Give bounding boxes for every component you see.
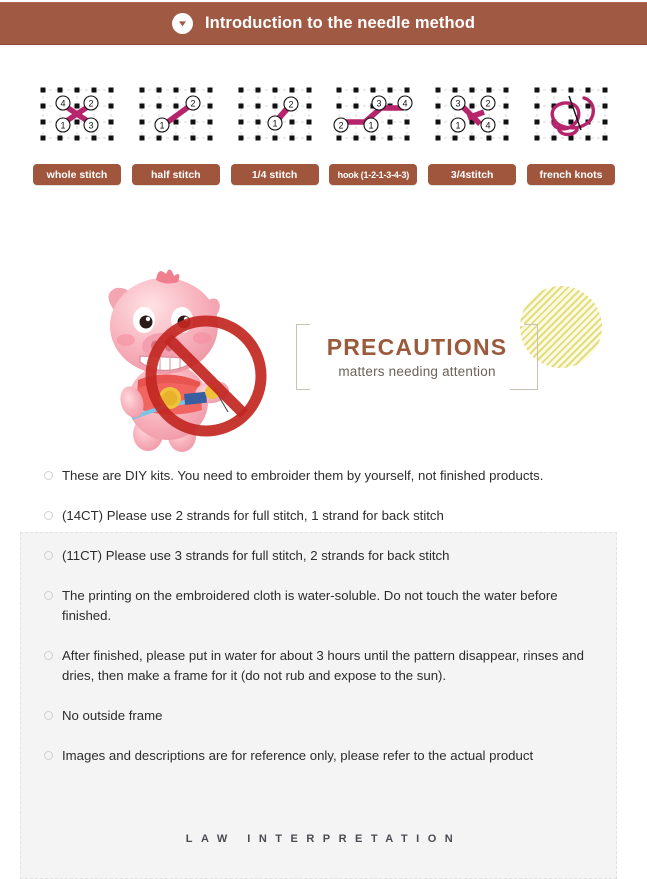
- svg-text:4: 4: [486, 120, 491, 130]
- section-header-needle-method: Introduction to the needle method: [0, 2, 647, 45]
- notes-list: These are DIY kits. You need to embroide…: [44, 466, 604, 786]
- bullet-circle-icon: [44, 711, 53, 720]
- stitch-cell-whole-stitch: 1 2 3 4 whole stitch: [33, 84, 121, 185]
- list-item: The printing on the embroidered cloth is…: [44, 586, 604, 626]
- note-text: No outside frame: [62, 706, 162, 726]
- precautions-title: PRECAUTIONS: [327, 335, 508, 360]
- note-text: Images and descriptions are for referenc…: [62, 746, 533, 766]
- note-text: These are DIY kits. You need to embroide…: [62, 466, 543, 486]
- svg-text:2: 2: [88, 98, 93, 108]
- stitch-label-three-quarter-stitch: 3/4stitch: [428, 164, 516, 185]
- bullet-circle-icon: [44, 551, 53, 560]
- svg-text:1: 1: [369, 120, 374, 130]
- stitch-grid-french-knots: [529, 84, 613, 154]
- note-text: After finished, please put in water for …: [62, 646, 587, 686]
- stitch-label-half-stitch: half stitch: [132, 164, 220, 185]
- svg-text:2: 2: [288, 99, 293, 109]
- svg-text:1: 1: [456, 120, 461, 130]
- svg-text:1: 1: [272, 118, 277, 128]
- svg-text:2: 2: [190, 98, 195, 108]
- stitch-cell-french-knots: french knots: [527, 84, 615, 185]
- svg-text:4: 4: [60, 98, 65, 108]
- stitch-cell-hook: 1 2 3 4 hook (1-2-1-3-4-3): [329, 84, 417, 185]
- stitch-label-whole-stitch: whole stitch: [33, 164, 121, 185]
- svg-text:2: 2: [486, 98, 491, 108]
- list-item: No outside frame: [44, 706, 604, 726]
- bullet-circle-icon: [44, 511, 53, 520]
- page-title: Introduction to the needle method: [205, 14, 475, 33]
- stitch-label-quarter-stitch: 1/4 stitch: [231, 164, 319, 185]
- stitch-cell-quarter-stitch: 1 2 1/4 stitch: [231, 84, 319, 185]
- note-text: (14CT) Please use 2 strands for full sti…: [62, 506, 444, 526]
- note-text: The printing on the embroidered cloth is…: [62, 586, 582, 626]
- bullet-circle-icon: [44, 751, 53, 760]
- svg-text:4: 4: [403, 98, 408, 108]
- bullet-circle-icon: [44, 471, 53, 480]
- stitch-grid-hook: 1 2 3 4: [331, 84, 415, 154]
- precautions-subtitle: matters needing attention: [338, 364, 495, 379]
- bullet-circle-icon: [44, 591, 53, 600]
- stitch-cell-three-quarter-stitch: 1 2 3 4 3/4stitch: [428, 84, 516, 185]
- product-detail-page: Introduction to the needle method: [0, 0, 647, 879]
- stitch-grid-whole-stitch: 1 2 3 4: [35, 84, 119, 154]
- footer-wordmark: LAW INTERPRETATION: [0, 833, 647, 845]
- chevron-down-circle-icon: [172, 13, 193, 34]
- svg-text:2: 2: [339, 120, 344, 130]
- list-item: (14CT) Please use 2 strands for full sti…: [44, 506, 604, 526]
- stitch-grid-quarter-stitch: 1 2: [233, 84, 317, 154]
- precautions-block: PRECAUTIONS matters needing attention: [296, 286, 606, 396]
- note-text: (11CT) Please use 3 strands for full sti…: [62, 546, 449, 566]
- svg-text:3: 3: [456, 98, 461, 108]
- stitch-diagram-row: 1 2 3 4 whole stitch: [33, 84, 615, 196]
- stitch-grid-three-quarter-stitch: 1 2 3 4: [430, 84, 514, 154]
- list-item: These are DIY kits. You need to embroide…: [44, 466, 604, 486]
- svg-text:1: 1: [159, 120, 164, 130]
- svg-text:1: 1: [60, 120, 65, 130]
- list-item: Images and descriptions are for referenc…: [44, 746, 604, 766]
- list-item: (11CT) Please use 3 strands for full sti…: [44, 546, 604, 566]
- stitch-grid-half-stitch: 1 2: [134, 84, 218, 154]
- stitch-cell-half-stitch: 1 2 half stitch: [132, 84, 220, 185]
- stitch-label-hook: hook (1-2-1-3-4-3): [329, 164, 417, 185]
- list-item: After finished, please put in water for …: [44, 646, 604, 686]
- svg-text:3: 3: [88, 120, 93, 130]
- pig-illustration: [96, 252, 281, 457]
- stitch-label-french-knots: french knots: [527, 164, 615, 185]
- bullet-circle-icon: [44, 651, 53, 660]
- svg-text:3: 3: [377, 98, 382, 108]
